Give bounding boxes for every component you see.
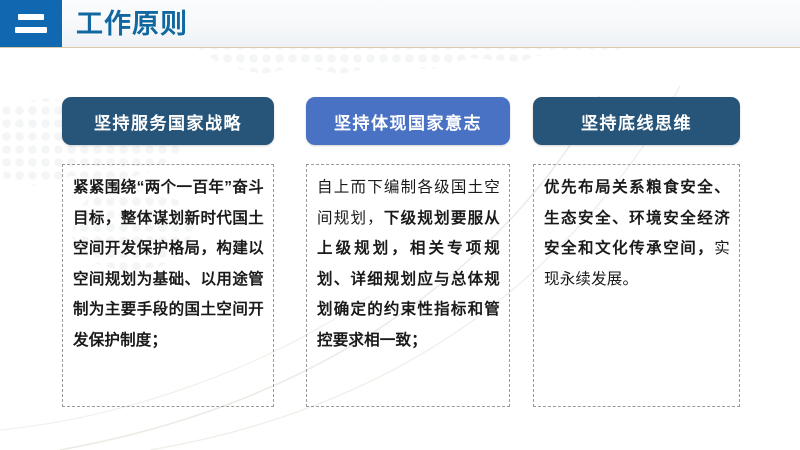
principle-card-3: 坚持底线思维 优先布局关系粮食安全、生态安全、环境安全经济安全和文化传承空间，实… (533, 97, 740, 407)
principle-card-2: 坚持体现国家意志 自上而下编制各级国土空间规划，下级规划要服从上级规划，相关专项… (306, 97, 510, 407)
principle-card-3-body: 优先布局关系粮食安全、生态安全、环境安全经济安全和文化传承空间，实现永续发展。 (533, 164, 740, 407)
principle-card-1: 坚持服务国家战略 紧紧围绕“两个一百年”奋斗目标，整体谋划新时代国土空间开发保护… (62, 97, 274, 407)
principle-card-1-body-bold: 紧紧围绕“两个一百年”奋斗目标，整体谋划新时代国土空间开发保护格局，构建以空间规… (73, 179, 264, 349)
principle-card-3-body-bold: 优先布局关系粮食安全、生态安全、环境安全经济安全和文化传承空间， (544, 179, 730, 257)
numeral-er-stroke-top (18, 14, 44, 20)
slide-root: 二 工作原则 坚持服务国家战略 紧紧围绕“两个一百年”奋斗目标，整体谋划新时代国… (0, 0, 800, 450)
principle-card-1-title: 坚持服务国家战略 (62, 97, 274, 145)
numeral-er-stroke-bottom (15, 27, 47, 33)
header-divider-rule (0, 47, 800, 48)
principle-card-2-title: 坚持体现国家意志 (306, 97, 510, 145)
section-number-badge: 二 (0, 0, 62, 47)
principle-card-1-body: 紧紧围绕“两个一百年”奋斗目标，整体谋划新时代国土空间开发保护格局，构建以空间规… (62, 164, 274, 407)
principle-card-3-title: 坚持底线思维 (533, 97, 740, 145)
slide-header: 二 工作原则 (0, 0, 800, 48)
page-title: 工作原则 (76, 7, 188, 41)
principle-card-2-body: 自上而下编制各级国土空间规划，下级规划要服从上级规划，相关专项规划、详细规划应与… (306, 164, 510, 407)
principle-card-2-body-bold: 下级规划要服从上级规划，相关专项规划、详细规划应与总体规划确定的约束性指标和管控… (317, 210, 500, 349)
